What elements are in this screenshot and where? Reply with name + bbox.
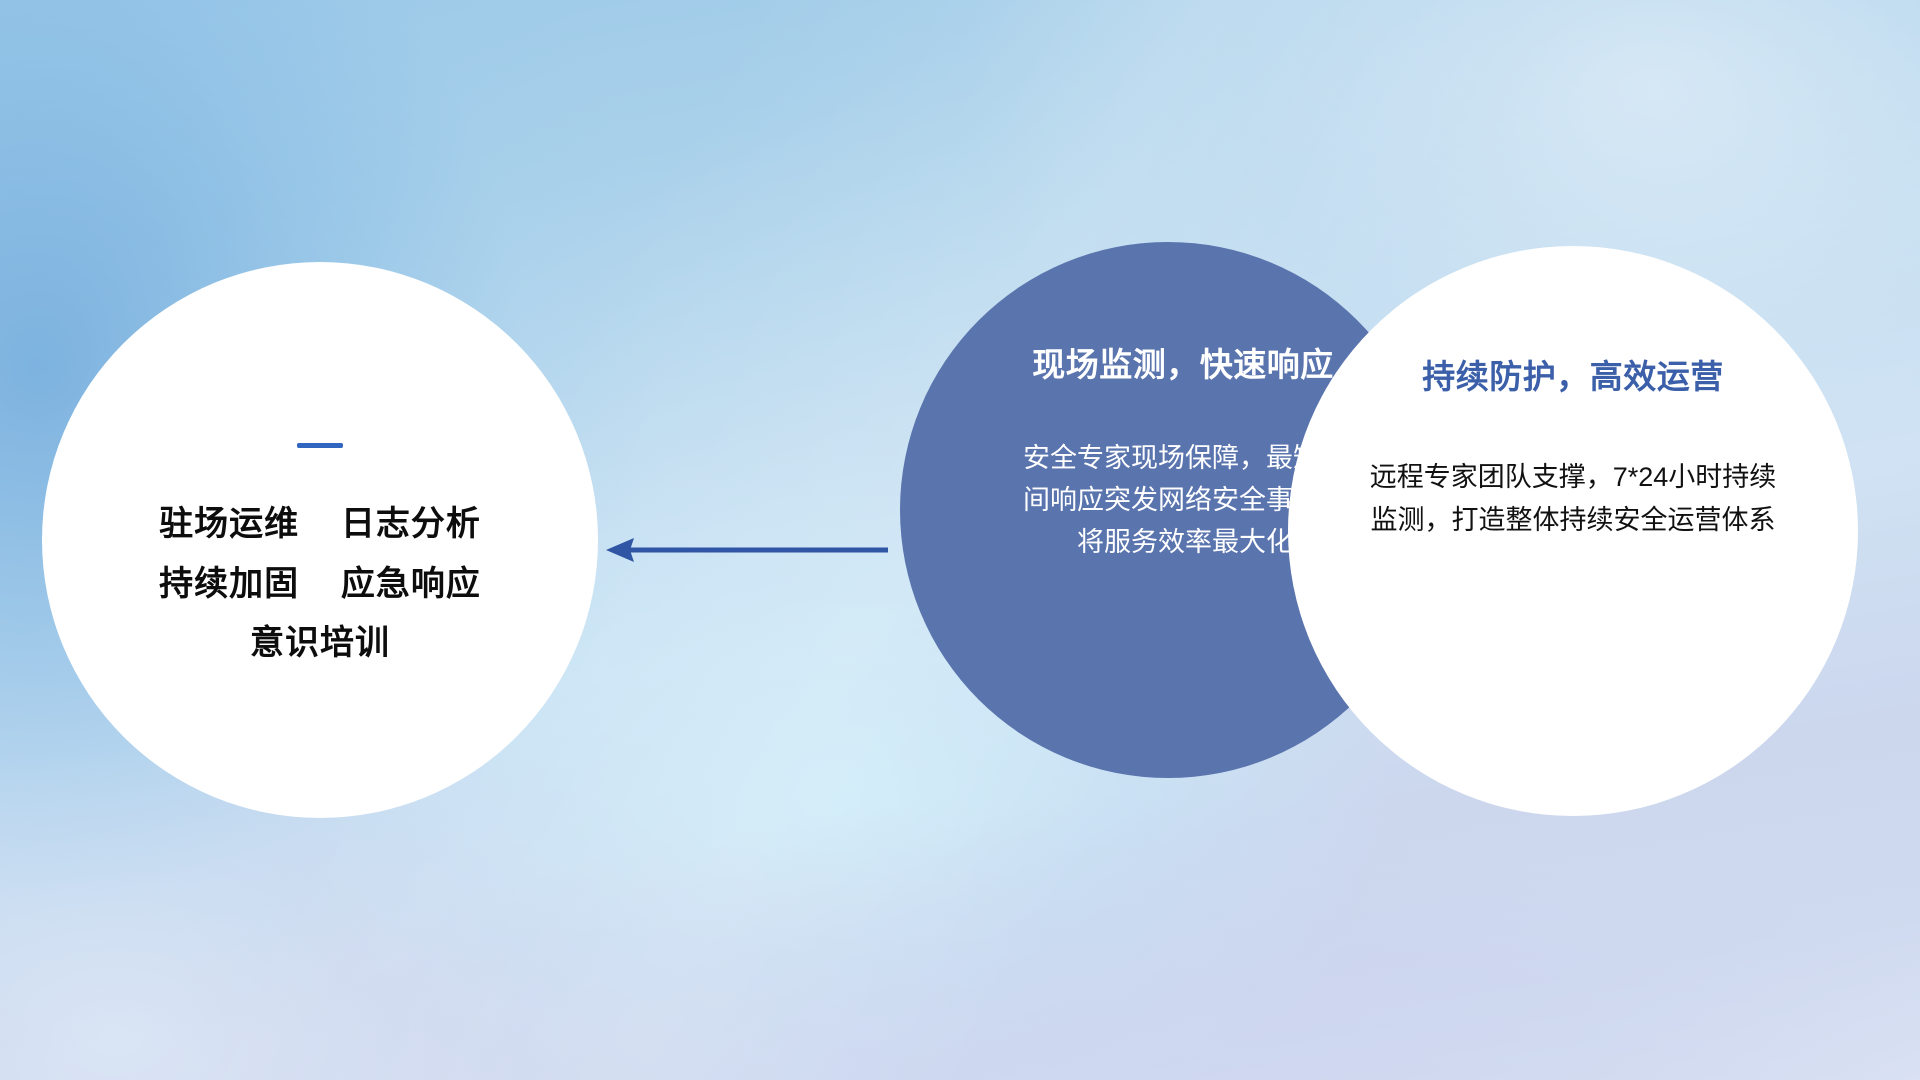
capability-keyword-list: 驻场运维 日志分析 持续加固 应急响应 意识培训 xyxy=(159,506,481,662)
capability-line: 持续加固 应急响应 xyxy=(159,566,481,603)
divider-rule xyxy=(297,443,343,448)
capabilities-content: 驻场运维 日志分析 持续加固 应急响应 意识培训 xyxy=(42,262,598,818)
arrow-left-icon xyxy=(600,520,890,580)
slide-canvas: 驻场运维 日志分析 持续加固 应急响应 意识培训 现场监测，快速响应 安全专家现… xyxy=(0,0,1920,1080)
continuous-protection-title: 持续防护，高效运营 xyxy=(1422,350,1724,398)
capability-line: 意识培训 xyxy=(250,625,390,662)
continuous-protection-content: 持续防护，高效运营 远程专家团队支撑，7*24小时持续监测，打造整体持续安全运营… xyxy=(1288,246,1858,816)
capabilities-circle[interactable]: 驻场运维 日志分析 持续加固 应急响应 意识培训 xyxy=(42,262,598,818)
continuous-protection-circle[interactable]: 持续防护，高效运营 远程专家团队支撑，7*24小时持续监测，打造整体持续安全运营… xyxy=(1288,246,1858,816)
continuous-protection-body: 远程专家团队支撑，7*24小时持续监测，打造整体持续安全运营体系 xyxy=(1368,456,1778,542)
capability-line: 驻场运维 日志分析 xyxy=(159,506,481,543)
